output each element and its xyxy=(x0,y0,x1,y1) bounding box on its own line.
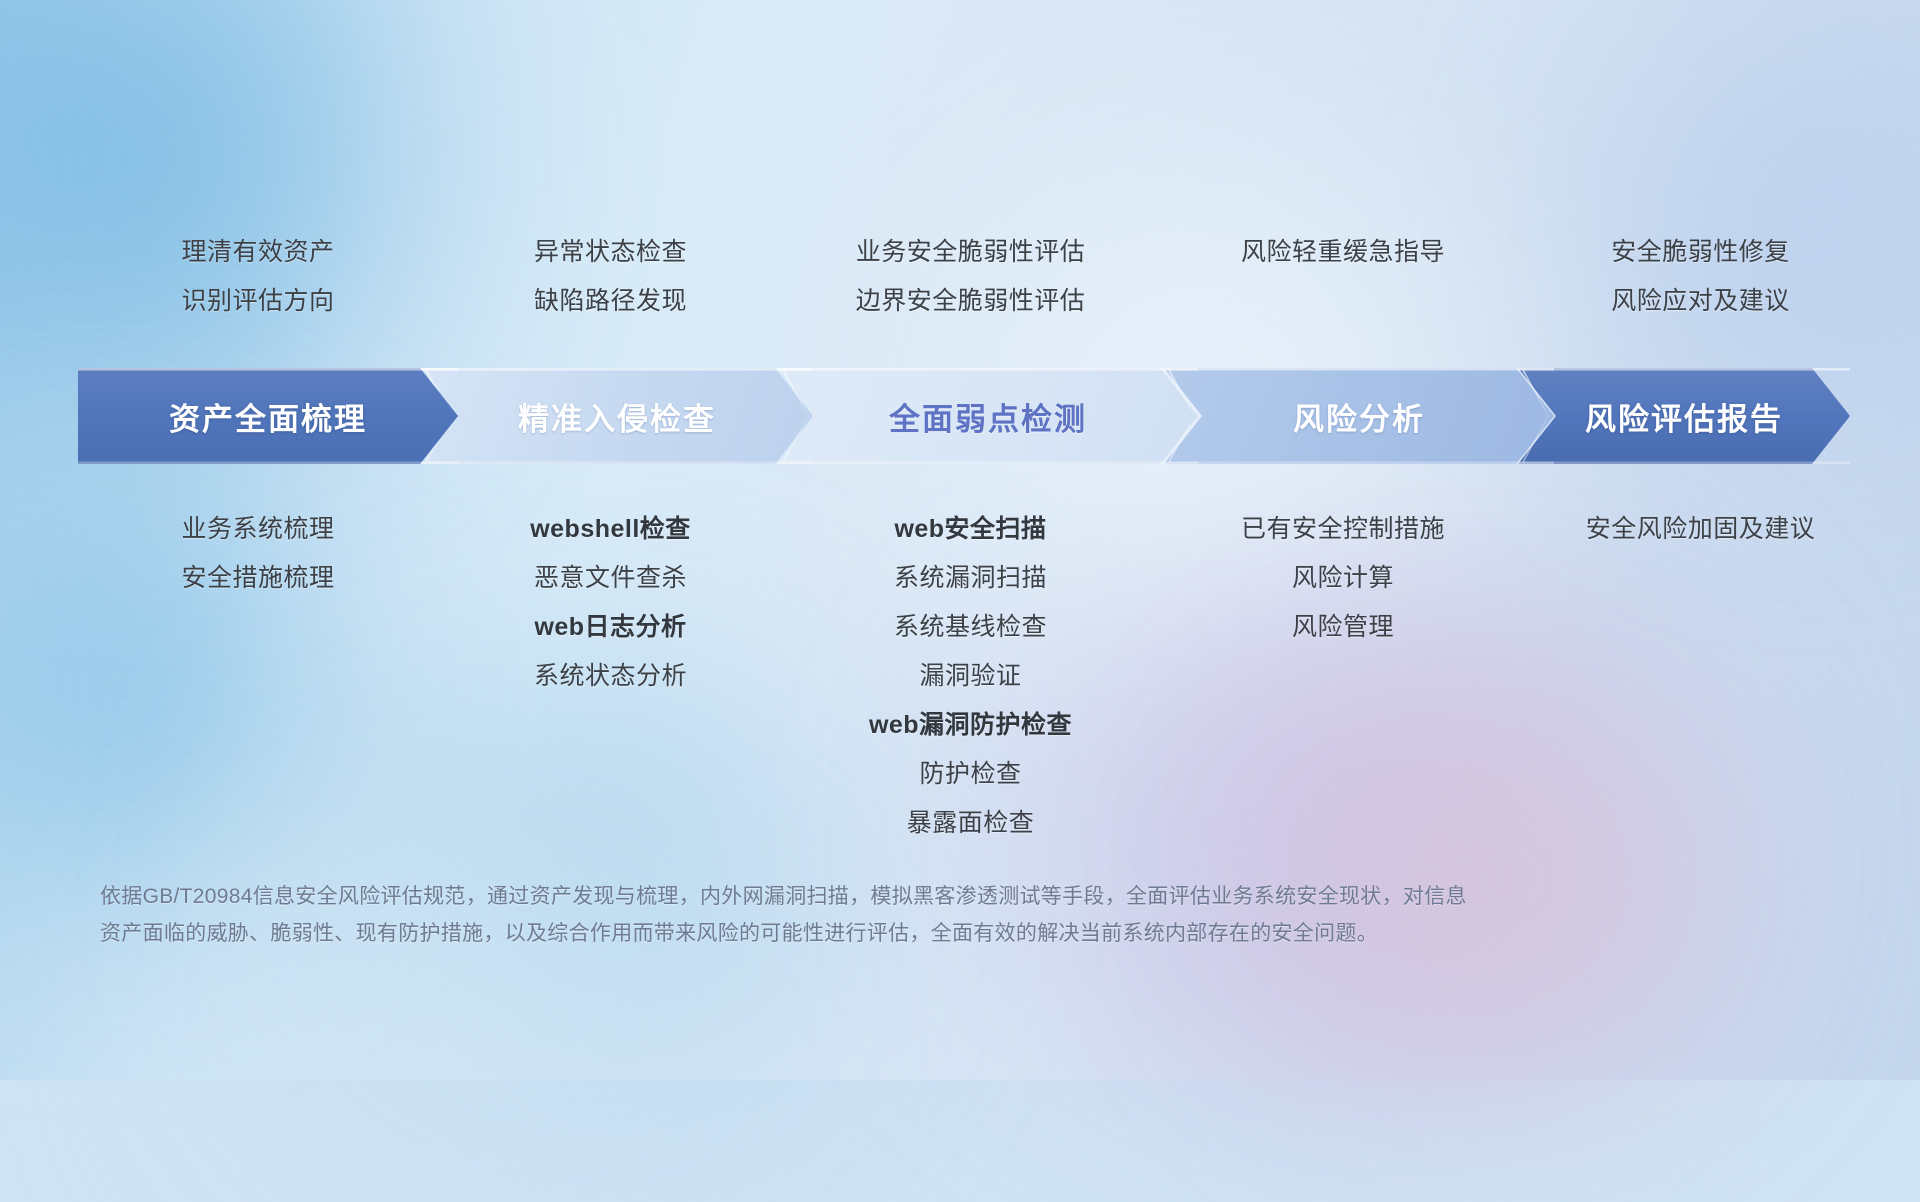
top-column-weakness-detection: 业务安全脆弱性评估 边界安全脆弱性评估 xyxy=(783,228,1158,318)
list-item: 系统基线检查 xyxy=(894,603,1047,652)
list-item: 已有安全控制措施 xyxy=(1241,505,1445,554)
footer-line-1: 依据GB/T20984信息安全风险评估规范，通过资产发现与梳理，内外网漏洞扫描，… xyxy=(100,878,1620,915)
chevron-stage-asset-inventory[interactable]: 资产全面梳理 xyxy=(78,368,458,464)
top-item: 识别评估方向 xyxy=(181,277,334,326)
bottom-column-weakness-detection: web安全扫描 系统漏洞扫描 系统基线检查 漏洞验证 web漏洞防护检查 防护检… xyxy=(783,505,1158,848)
top-column-intrusion-check: 异常状态检查 缺陷路径发现 xyxy=(438,228,783,318)
list-item: 安全措施梳理 xyxy=(181,554,334,603)
top-outcomes-row: 理清有效资产 识别评估方向 异常状态检查 缺陷路径发现 业务安全脆弱性评估 边界… xyxy=(78,228,1870,318)
top-column-assessment-report: 安全脆弱性修复 风险应对及建议 xyxy=(1528,228,1873,318)
footer-line-2: 资产面临的威胁、脆弱性、现有防护措施，以及综合作用而带来风险的可能性进行评估，全… xyxy=(100,915,1620,952)
bottom-column-asset-inventory: 业务系统梳理 安全措施梳理 xyxy=(78,505,438,603)
top-item: 风险应对及建议 xyxy=(1611,277,1790,326)
chevron-label: 全面弱点检测 xyxy=(889,394,1087,439)
list-item: 系统漏洞扫描 xyxy=(894,554,1047,603)
list-item: 系统状态分析 xyxy=(534,652,687,701)
chevron-stage-intrusion-check[interactable]: 精准入侵检查 xyxy=(421,368,813,464)
top-item: 缺陷路径发现 xyxy=(534,277,687,326)
chevron-stage-risk-analysis[interactable]: 风险分析 xyxy=(1164,368,1554,464)
footer-description: 依据GB/T20984信息安全风险评估规范，通过资产发现与梳理，内外网漏洞扫描，… xyxy=(100,878,1620,952)
top-item: 边界安全脆弱性评估 xyxy=(856,277,1086,326)
top-item: 异常状态检查 xyxy=(534,228,687,277)
chevron-label: 资产全面梳理 xyxy=(169,394,367,439)
bottom-column-risk-analysis: 已有安全控制措施 风险计算 风险管理 xyxy=(1158,505,1528,652)
list-item: 风险计算 xyxy=(1292,554,1394,603)
list-item: web日志分析 xyxy=(534,603,686,652)
list-item: 防护检查 xyxy=(919,750,1021,799)
list-item: web安全扫描 xyxy=(894,505,1046,554)
bottom-column-intrusion-check: webshell检查 恶意文件查杀 web日志分析 系统状态分析 xyxy=(438,505,783,701)
stage-chevron-banner: 资产全面梳理 精准入侵检查 全面弱点检测 风险分析 风险评估报告 xyxy=(78,368,1850,464)
top-item: 业务安全脆弱性评估 xyxy=(856,228,1086,277)
top-item: 理清有效资产 xyxy=(181,228,334,277)
list-item: 业务系统梳理 xyxy=(181,505,334,554)
bottom-activities-row: 业务系统梳理 安全措施梳理 webshell检查 恶意文件查杀 web日志分析 … xyxy=(78,505,1870,848)
list-item: 风险管理 xyxy=(1292,603,1394,652)
list-item: 漏洞验证 xyxy=(919,652,1021,701)
chevron-stage-weakness-detection[interactable]: 全面弱点检测 xyxy=(778,368,1198,464)
top-item: 风险轻重缓急指导 xyxy=(1241,228,1445,277)
process-diagram: 理清有效资产 识别评估方向 异常状态检查 缺陷路径发现 业务安全脆弱性评估 边界… xyxy=(0,0,1920,1080)
list-item: web漏洞防护检查 xyxy=(869,701,1072,750)
chevron-label: 精准入侵检查 xyxy=(518,394,716,439)
chevron-stage-assessment-report[interactable]: 风险评估报告 xyxy=(1518,368,1850,464)
list-item: webshell检查 xyxy=(530,505,691,554)
top-column-asset-inventory: 理清有效资产 识别评估方向 xyxy=(78,228,438,318)
top-item: 安全脆弱性修复 xyxy=(1611,228,1790,277)
list-item: 安全风险加固及建议 xyxy=(1586,505,1816,554)
list-item: 暴露面检查 xyxy=(907,799,1035,848)
bottom-column-assessment-report: 安全风险加固及建议 xyxy=(1528,505,1873,554)
list-item: 恶意文件查杀 xyxy=(534,554,687,603)
chevron-label: 风险分析 xyxy=(1293,394,1425,439)
top-column-risk-analysis: 风险轻重缓急指导 xyxy=(1158,228,1528,318)
chevron-label: 风险评估报告 xyxy=(1585,394,1783,439)
